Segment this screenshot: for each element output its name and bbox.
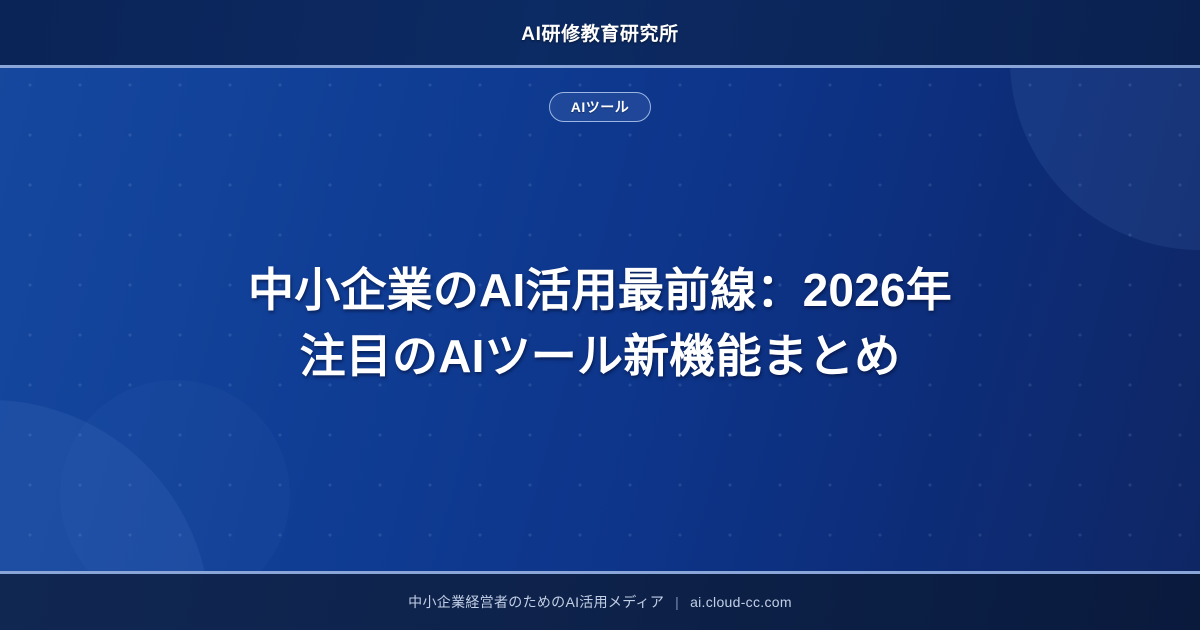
page-title-line-2: 注目のAIツール新機能まとめ	[160, 324, 1040, 389]
main-content: AIツール 中小企業のAI活用最前線：2026年 注目のAIツール新機能まとめ	[0, 68, 1200, 571]
category-badge[interactable]: AIツール	[549, 92, 652, 122]
header-bar: AI研修教育研究所	[0, 0, 1200, 68]
footer-bar: 中小企業経営者のためのAI活用メディア | ai.cloud-cc.com	[0, 571, 1200, 630]
footer-separator: |	[675, 594, 679, 610]
og-image-card: AI研修教育研究所 AIツール 中小企業のAI活用最前線：2026年 注目のAI…	[0, 0, 1200, 630]
page-title-line-1: 中小企業のAI活用最前線：2026年	[160, 258, 1040, 323]
page-title: 中小企業のAI活用最前線：2026年 注目のAIツール新機能まとめ	[160, 258, 1040, 389]
footer-text: 中小企業経営者のためのAI活用メディア | ai.cloud-cc.com	[408, 592, 792, 612]
footer-tagline: 中小企業経営者のためのAI活用メディア	[408, 592, 664, 612]
site-title: AI研修教育研究所	[521, 19, 678, 46]
footer-domain: ai.cloud-cc.com	[690, 594, 792, 610]
headline-container: 中小企業のAI活用最前線：2026年 注目のAIツール新機能まとめ	[0, 122, 1200, 571]
